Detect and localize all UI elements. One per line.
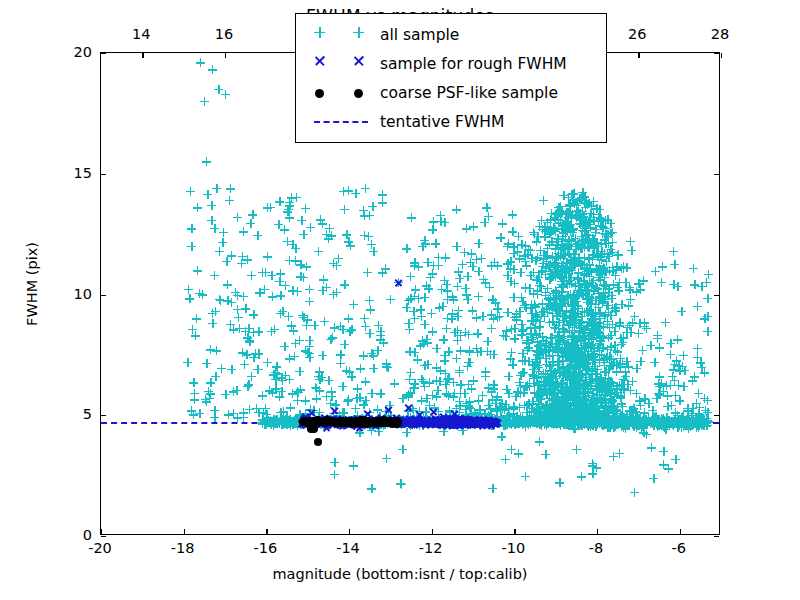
- data-point: [415, 410, 424, 419]
- data-point: [185, 294, 194, 303]
- data-point: [625, 285, 634, 294]
- data-point: [541, 251, 550, 260]
- data-point: [492, 405, 501, 414]
- data-point: [603, 317, 612, 326]
- data-point: [542, 412, 551, 421]
- data-point: [590, 413, 599, 422]
- data-point: [577, 371, 586, 380]
- data-point: [545, 227, 554, 236]
- data-point: [473, 410, 482, 419]
- data-point: [543, 389, 552, 398]
- x-tick: [514, 529, 515, 534]
- data-point: [493, 261, 502, 270]
- data-point: [587, 403, 596, 412]
- data-point: [659, 387, 668, 396]
- data-point: [420, 236, 429, 245]
- data-point: [580, 280, 589, 289]
- data-point: [545, 275, 554, 284]
- legend-label: tentative FWHM: [380, 113, 504, 131]
- data-point: [301, 396, 310, 405]
- data-point: [410, 348, 419, 357]
- data-point: [535, 281, 544, 290]
- data-point: [558, 411, 567, 420]
- data-point: [550, 224, 559, 233]
- data-point: [564, 408, 573, 417]
- data-point: [586, 300, 595, 309]
- data-point: [540, 404, 549, 413]
- legend-label: sample for rough FWHM: [380, 55, 567, 73]
- data-point: [580, 329, 589, 338]
- y-tick-label: 10: [74, 286, 92, 302]
- data-point: [556, 300, 565, 309]
- data-point: [607, 294, 616, 303]
- data-point: [565, 412, 574, 421]
- data-point: [365, 211, 374, 220]
- data-point: [647, 443, 656, 452]
- data-point: [626, 295, 635, 304]
- data-point: [579, 413, 588, 422]
- data-point: [616, 362, 625, 371]
- data-point: [406, 388, 415, 397]
- data-point: [598, 397, 607, 406]
- data-point: [561, 250, 570, 259]
- data-point: [567, 266, 576, 275]
- data-point: [578, 362, 587, 371]
- data-point: [442, 280, 451, 289]
- data-point: [565, 350, 574, 359]
- data-point: [581, 360, 590, 369]
- data-point: [563, 406, 572, 415]
- data-point: [410, 292, 419, 301]
- data-point: [576, 409, 585, 418]
- data-point: [543, 378, 552, 387]
- data-point: [581, 289, 590, 298]
- data-point: [589, 318, 598, 327]
- data-point: [563, 400, 572, 409]
- data-point: [386, 295, 395, 304]
- data-point: [554, 318, 563, 327]
- data-point: [610, 327, 619, 336]
- data-point: [410, 258, 419, 267]
- data-point: [556, 273, 565, 282]
- data-point: [609, 358, 618, 367]
- data-point: [365, 329, 374, 338]
- data-point: [353, 411, 362, 420]
- data-point: [553, 301, 562, 310]
- data-point: [347, 417, 356, 426]
- data-point: [550, 323, 559, 332]
- data-point: [603, 345, 612, 354]
- data-point: [655, 390, 664, 399]
- data-point: [574, 409, 583, 418]
- data-point: [668, 372, 677, 381]
- data-point: [572, 399, 581, 408]
- data-point: [428, 225, 437, 234]
- data-point: [575, 209, 584, 218]
- data-point: [435, 303, 444, 312]
- data-point: [535, 399, 544, 408]
- data-point: [208, 309, 217, 318]
- data-point: [579, 403, 588, 412]
- data-point: [563, 293, 572, 302]
- data-point: [566, 273, 575, 282]
- data-point: [541, 354, 550, 363]
- data-point: [543, 222, 552, 231]
- data-point: [694, 389, 703, 398]
- data-point: [589, 281, 598, 290]
- data-point: [603, 215, 612, 224]
- data-point: [532, 256, 541, 265]
- data-point: [558, 387, 567, 396]
- data-point: [604, 412, 613, 421]
- data-point: [552, 259, 561, 268]
- data-point: [365, 296, 374, 305]
- data-point: [454, 306, 463, 315]
- data-point: [612, 405, 621, 414]
- data-point: [183, 358, 192, 367]
- data-point: [586, 410, 595, 419]
- data-point: [535, 329, 544, 338]
- data-point: [553, 381, 562, 390]
- data-point: [618, 338, 627, 347]
- data-point: [587, 366, 596, 375]
- data-point: [432, 363, 441, 372]
- data-point: [452, 404, 461, 413]
- data-point: [596, 331, 605, 340]
- data-point: [265, 386, 274, 395]
- data-point: [515, 254, 524, 263]
- data-point: [587, 329, 596, 338]
- data-point: [594, 376, 603, 385]
- data-point: [450, 328, 459, 337]
- data-point: [404, 296, 413, 305]
- data-point: [581, 369, 590, 378]
- data-point: [583, 231, 592, 240]
- data-point: [327, 392, 336, 401]
- data-point: [232, 386, 241, 395]
- data-point: [405, 347, 414, 356]
- data-point: [573, 341, 582, 350]
- data-point: [566, 290, 575, 299]
- data-point: [588, 461, 597, 470]
- data-point: [659, 460, 668, 469]
- data-point: [428, 327, 437, 336]
- data-point: [577, 244, 586, 253]
- data-point: [605, 352, 614, 361]
- data-point: [567, 308, 576, 317]
- data-point: [545, 240, 554, 249]
- data-point: [565, 240, 574, 249]
- data-point: [255, 288, 264, 297]
- data-point: [582, 267, 591, 276]
- data-point: [305, 353, 314, 362]
- data-point: [632, 287, 641, 296]
- data-point: [271, 384, 280, 393]
- data-point: [465, 346, 474, 355]
- data-point: [555, 335, 564, 344]
- data-point: [553, 365, 562, 374]
- data-point: [542, 360, 551, 369]
- data-point: [464, 330, 473, 339]
- data-point: [211, 307, 220, 316]
- data-point: [443, 375, 452, 384]
- data-point: [519, 325, 528, 334]
- data-point: [562, 413, 571, 422]
- data-point: [332, 288, 341, 297]
- data-point: [433, 386, 442, 395]
- data-point: [541, 288, 550, 297]
- data-point: [299, 273, 308, 282]
- data-point: [545, 228, 554, 237]
- data-point: [223, 280, 232, 289]
- data-point: [365, 408, 374, 417]
- data-point: [534, 399, 543, 408]
- data-point: [571, 409, 580, 418]
- data-point: [604, 402, 613, 411]
- data-point: [575, 257, 584, 266]
- data-point: [546, 293, 555, 302]
- data-point: [564, 273, 573, 282]
- data-point: [621, 372, 630, 381]
- data-point: [574, 363, 583, 372]
- data-point: [377, 414, 386, 423]
- data-point: [595, 329, 604, 338]
- data-point: [587, 309, 596, 318]
- data-point: [240, 360, 249, 369]
- data-point: [639, 413, 648, 422]
- data-point: [582, 219, 591, 228]
- data-point: [599, 417, 608, 426]
- data-point: [567, 266, 576, 275]
- data-point: [585, 260, 594, 269]
- data-point: [568, 225, 577, 234]
- data-point: [634, 329, 643, 338]
- data-point: [587, 334, 596, 343]
- data-point: [238, 348, 247, 357]
- data-point: [598, 411, 607, 420]
- x-tick-label-top: 16: [215, 26, 233, 42]
- data-point: [428, 327, 437, 336]
- data-point: [578, 396, 587, 405]
- data-point: [208, 319, 217, 328]
- data-point: [589, 355, 598, 364]
- data-point: [503, 259, 512, 268]
- data-point: [287, 417, 296, 426]
- data-point: [581, 411, 590, 420]
- data-point: [440, 351, 449, 360]
- data-point: [579, 396, 588, 405]
- data-point: [563, 363, 572, 372]
- data-point: [566, 404, 575, 413]
- data-point: [544, 386, 553, 395]
- data-point: [560, 327, 569, 336]
- data-point: [579, 396, 588, 405]
- data-point: [258, 268, 267, 277]
- data-point: [546, 299, 555, 308]
- data-point: [670, 260, 679, 269]
- data-point: [580, 198, 589, 207]
- data-point: [285, 213, 294, 222]
- data-point: [347, 372, 356, 381]
- data-point: [593, 251, 602, 260]
- data-point: [659, 447, 668, 456]
- data-point: [608, 267, 617, 276]
- data-point: [587, 314, 596, 323]
- tentative-fwhm-line: [101, 422, 719, 424]
- data-point: [606, 381, 615, 390]
- x-tick-label-top: 14: [132, 26, 150, 42]
- data-point: [466, 412, 475, 421]
- data-point: [570, 338, 579, 347]
- data-point: [425, 378, 434, 387]
- data-point: [532, 275, 541, 284]
- data-point: [553, 411, 562, 420]
- data-point: [497, 399, 506, 408]
- data-point: [253, 231, 262, 240]
- data-point: [580, 264, 589, 273]
- data-point: [556, 244, 565, 253]
- data-point: [554, 270, 563, 279]
- data-point: [464, 401, 473, 410]
- data-point: [474, 239, 483, 248]
- data-point: [632, 423, 641, 432]
- data-point: [590, 344, 599, 353]
- data-point: [509, 293, 518, 302]
- data-point: [546, 333, 555, 342]
- data-point: [571, 375, 580, 384]
- data-point: [576, 408, 585, 417]
- data-point: [539, 405, 548, 414]
- data-point: [664, 417, 673, 426]
- data-point: [636, 357, 645, 366]
- data-point: [301, 204, 310, 213]
- data-point: [535, 420, 544, 429]
- data-point: [558, 371, 567, 380]
- data-point: [577, 232, 586, 241]
- data-point: [544, 342, 553, 351]
- data-point: [573, 257, 582, 266]
- data-point: [324, 376, 333, 385]
- data-point: [655, 372, 664, 381]
- data-point: [562, 258, 571, 267]
- data-point: [578, 236, 587, 245]
- data-point: [563, 376, 572, 385]
- data-point: [697, 363, 706, 372]
- data-point: [404, 390, 413, 399]
- data-point: [594, 408, 603, 417]
- data-point: [562, 387, 571, 396]
- data-point: [589, 420, 598, 429]
- data-point: [520, 356, 529, 365]
- data-point: [522, 382, 531, 391]
- data-point: [666, 381, 675, 390]
- data-point: [678, 362, 687, 371]
- data-point: [375, 412, 384, 421]
- data-point: [554, 347, 563, 356]
- data-point: [593, 327, 602, 336]
- data-point: [603, 423, 612, 432]
- data-point: [198, 290, 207, 299]
- data-point: [604, 413, 613, 422]
- data-point: [574, 374, 583, 383]
- data-point: [600, 404, 609, 413]
- data-point: [629, 404, 638, 413]
- data-point: [596, 396, 605, 405]
- data-point: [554, 292, 563, 301]
- data-point: [448, 309, 457, 318]
- data-point: [324, 417, 333, 426]
- data-point: [559, 298, 568, 307]
- data-point: [564, 349, 573, 358]
- data-point: [586, 407, 595, 416]
- data-point: [600, 273, 609, 282]
- data-point: [572, 343, 581, 352]
- data-point: [561, 219, 570, 228]
- data-point: [547, 333, 556, 342]
- data-point: [595, 339, 604, 348]
- data-point: [551, 402, 560, 411]
- data-point: [601, 411, 610, 420]
- plus-icon: [313, 26, 325, 38]
- data-point: [552, 402, 561, 411]
- data-point: [421, 413, 430, 422]
- data-point: [541, 291, 550, 300]
- data-point: [210, 224, 219, 233]
- data-point: [494, 417, 503, 426]
- data-point: [578, 291, 587, 300]
- data-point: [587, 278, 596, 287]
- data-point: [546, 372, 555, 381]
- data-point: [556, 309, 565, 318]
- data-point: [566, 361, 575, 370]
- data-point: [409, 307, 418, 316]
- data-point: [534, 413, 543, 422]
- data-point: [451, 410, 460, 419]
- data-point: [595, 308, 604, 317]
- data-point: [546, 377, 555, 386]
- data-point: [581, 236, 590, 245]
- data-point: [575, 348, 584, 357]
- data-point: [559, 191, 568, 200]
- data-point: [242, 350, 251, 359]
- data-point: [418, 336, 427, 345]
- data-point: [570, 391, 579, 400]
- data-point: [569, 195, 578, 204]
- data-point: [572, 364, 581, 373]
- data-point: [553, 346, 562, 355]
- data-point: [598, 222, 607, 231]
- data-point: [345, 367, 354, 376]
- data-point: [605, 358, 614, 367]
- data-point: [554, 400, 563, 409]
- data-point: [276, 269, 285, 278]
- data-point: [551, 324, 560, 333]
- data-point: [506, 264, 515, 273]
- data-point: [574, 242, 583, 251]
- x-tick: [349, 529, 350, 534]
- data-point: [546, 296, 555, 305]
- data-point: [573, 197, 582, 206]
- data-point: [599, 223, 608, 232]
- data-point: [299, 313, 308, 322]
- data-point: [613, 347, 622, 356]
- data-point: [547, 269, 556, 278]
- data-point: [368, 202, 377, 211]
- data-point: [480, 409, 489, 418]
- data-point: [570, 318, 579, 327]
- data-point: [542, 257, 551, 266]
- data-point: [556, 209, 565, 218]
